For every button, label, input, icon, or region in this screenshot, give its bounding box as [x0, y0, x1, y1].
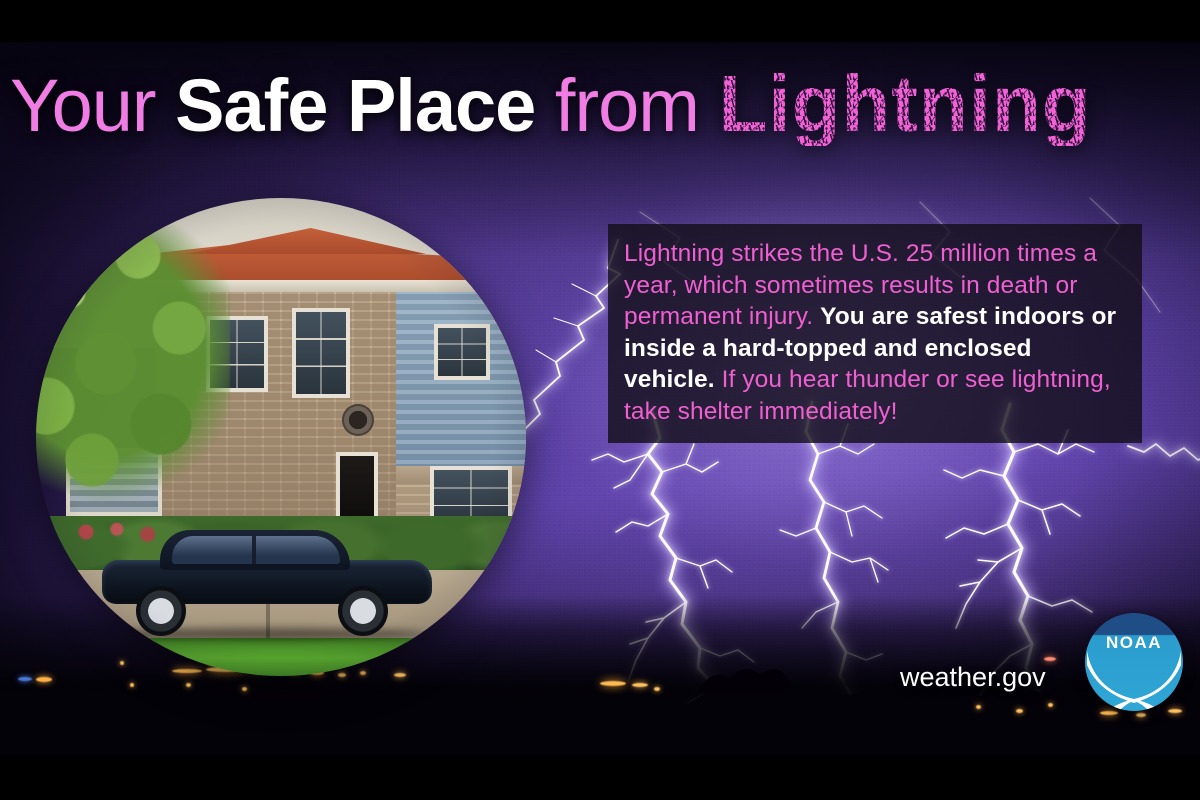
noaa-logo[interactable]: NOAA	[1085, 613, 1183, 711]
photo-window-upper-right	[434, 324, 490, 380]
photo-tree	[36, 208, 230, 508]
title-words-safe-place: Safe Place	[175, 64, 555, 147]
photo-car-windows	[172, 536, 340, 564]
photo-car-rear-wheel	[338, 586, 388, 636]
letterbox-top	[0, 0, 1200, 42]
noaa-seagull-icon	[1085, 649, 1183, 711]
photo-star-medallion	[342, 404, 374, 436]
photo-blue-siding	[396, 290, 526, 470]
lightning-safety-poster: Your Safe Place from Lightning Lightning…	[0, 0, 1200, 800]
safety-message-text: Lightning strikes the U.S. 25 million ti…	[624, 238, 1126, 427]
house-photo-circle	[36, 198, 526, 676]
weather-gov-url[interactable]: weather.gov	[900, 662, 1046, 693]
title-word-from: from	[555, 64, 719, 147]
photo-front-door	[336, 452, 378, 524]
photo-car-door-pillar	[252, 536, 256, 564]
page-title: Your Safe Place from Lightning	[10, 62, 1092, 148]
photo-car-front-wheel	[136, 586, 186, 636]
photo-window-upper-mid	[292, 308, 350, 398]
title-word-your: Your	[10, 64, 175, 147]
photo-car	[102, 528, 432, 620]
letterbox-bottom	[0, 755, 1200, 800]
safety-message-panel: Lightning strikes the U.S. 25 million ti…	[608, 224, 1142, 443]
photo-lawn	[36, 638, 526, 676]
title-word-lightning: Lightning	[718, 62, 1091, 146]
